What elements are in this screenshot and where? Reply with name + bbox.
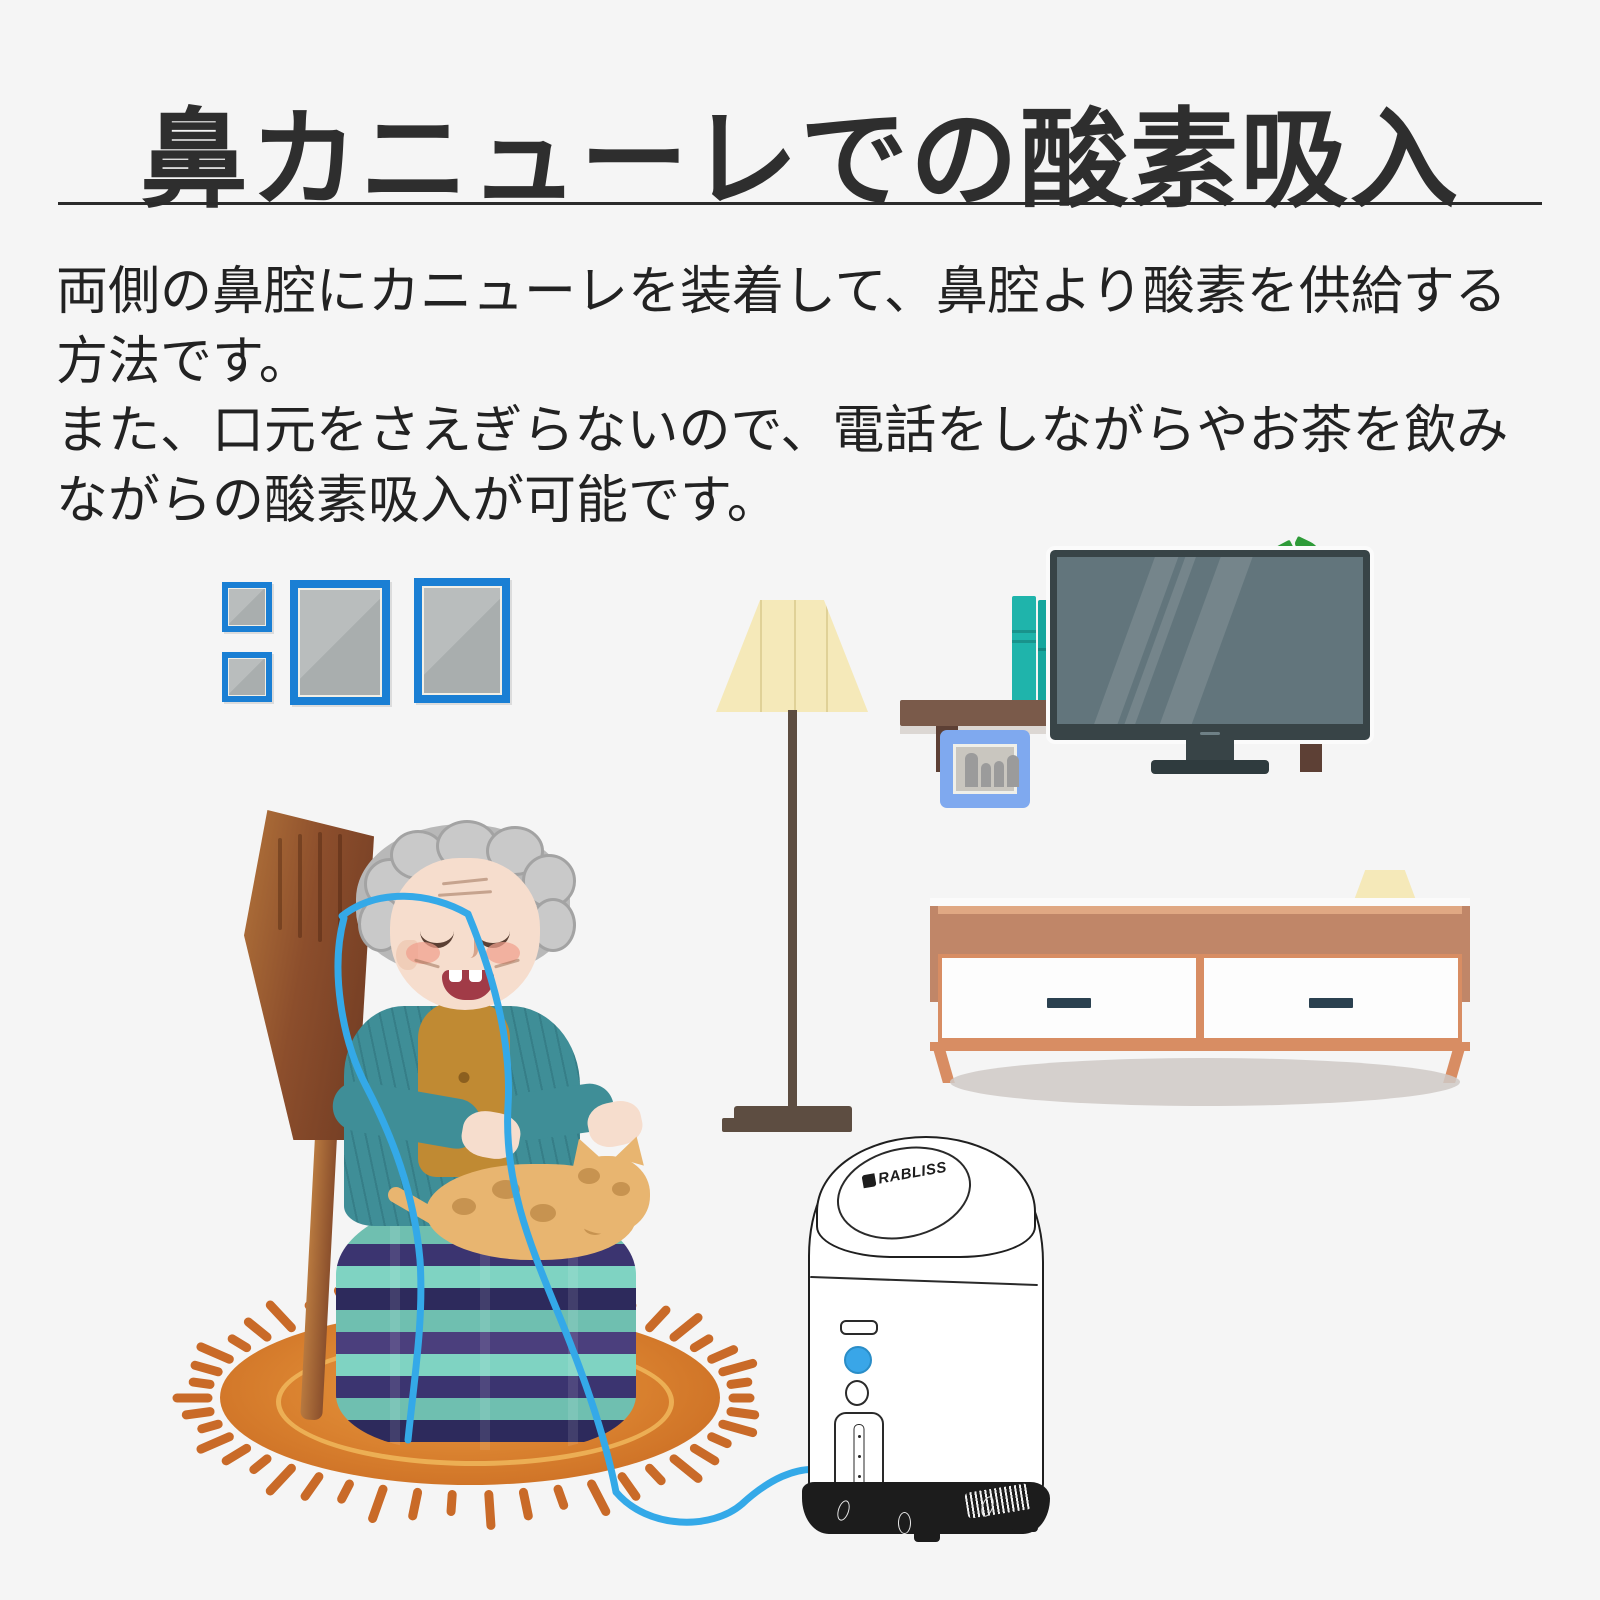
rug-fringe-strand	[616, 1471, 642, 1503]
console-drawer-right[interactable]	[1204, 958, 1458, 1038]
rug-fringe-strand	[173, 1394, 213, 1403]
elderly-woman-with-nasal-cannula	[236, 770, 676, 1470]
flow-knob[interactable]	[845, 1380, 869, 1406]
cat-head	[564, 1156, 650, 1234]
concentrator-foot-left	[914, 1528, 940, 1542]
family-photo-frame	[940, 730, 1030, 808]
description-paragraph-2: また、口元をさえぎらないので、電話をしながらやお茶を飲みながらの酸素吸入が可能で…	[56, 397, 1548, 536]
drawer-handle-left[interactable]	[1047, 998, 1091, 1008]
nose	[462, 936, 478, 958]
console-drawer-left[interactable]	[942, 958, 1196, 1038]
rug-fringe-strand	[484, 1489, 496, 1530]
floor-lamp-pole	[788, 710, 797, 1110]
concentrator-foot-right	[1012, 1518, 1038, 1532]
description-paragraph-1: 両側の鼻腔にカニューレを装着して、鼻腔より酸素を供給する方法です。	[56, 258, 1548, 397]
rug-fringe-strand	[336, 1478, 356, 1505]
page-root: 鼻カニューレでの酸素吸入 両側の鼻腔にカニューレを装着して、鼻腔より酸素を供給す…	[0, 0, 1600, 1600]
console-floor-shadow	[950, 1058, 1460, 1106]
rug-fringe-strand	[705, 1431, 732, 1450]
rug-fringe-strand	[182, 1406, 216, 1419]
mouth	[442, 970, 494, 1000]
rug-fringe-strand	[705, 1344, 739, 1365]
rug-fringe-strand	[447, 1489, 458, 1516]
rug-fringe-strand	[519, 1487, 535, 1521]
rug-fringe-strand	[299, 1471, 325, 1503]
tv-screen	[1057, 557, 1363, 724]
rug-fringe-strand	[585, 1478, 611, 1518]
rug-fringe-strand	[718, 1418, 759, 1437]
title-divider	[58, 202, 1542, 205]
rug-fringe-strand	[366, 1483, 388, 1524]
face	[390, 858, 540, 1010]
rug-fringe-strand	[196, 1418, 223, 1434]
rug-fringe-strand	[195, 1431, 235, 1455]
floor-lamp-shade	[716, 600, 868, 712]
picture-frame-small-top	[222, 582, 272, 632]
picture-frame-large-left	[290, 580, 390, 705]
power-button[interactable]	[844, 1346, 872, 1374]
head	[362, 832, 562, 1028]
rug-fringe-strand	[689, 1333, 716, 1354]
rug-fringe-strand	[718, 1358, 759, 1377]
rug-fringe-strand	[725, 1377, 752, 1389]
rug-fringe-strand	[189, 1360, 223, 1378]
console-drawers	[938, 954, 1462, 1042]
tv-stand	[930, 850, 1470, 1110]
drawer-handle-right[interactable]	[1309, 998, 1353, 1008]
picture-frame-gallery	[222, 570, 542, 730]
book-teal	[1012, 596, 1036, 700]
rug-fringe-strand	[729, 1394, 755, 1403]
oxygen-concentrator: RABLISS	[790, 1130, 1080, 1550]
rug-fringe-strand	[725, 1406, 759, 1419]
rabliss-logo-icon	[862, 1173, 877, 1188]
rug-fringe-strand	[553, 1483, 570, 1511]
picture-frame-large-right	[414, 578, 510, 703]
concentrator-vent-slot	[840, 1320, 878, 1335]
orange-tabby-cat	[406, 1140, 656, 1280]
chair-leg	[300, 1120, 338, 1421]
flat-screen-tv	[1050, 550, 1370, 740]
rug-fringe-strand	[189, 1377, 216, 1389]
description-block: 両側の鼻腔にカニューレを装着して、鼻腔より酸素を供給する方法です。 また、口元を…	[56, 258, 1548, 537]
living-room-illustration: RABLISS	[0, 520, 1600, 1600]
rug-fringe-strand	[689, 1442, 722, 1467]
rug-fringe-strand	[407, 1487, 423, 1521]
picture-frame-small-bottom	[222, 652, 272, 702]
